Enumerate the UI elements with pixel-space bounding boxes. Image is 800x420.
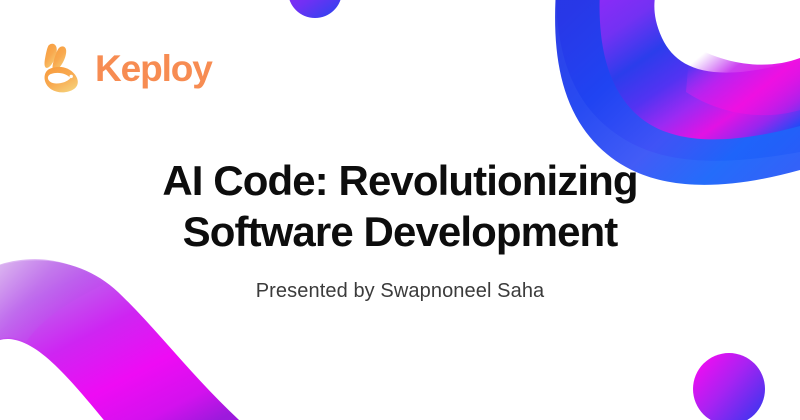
presenter-subtitle: Presented by Swapnoneel Saha bbox=[256, 279, 545, 303]
page-title: AI Code: Revolutionizing Software Develo… bbox=[80, 155, 720, 257]
title-slide: Keploy AI Code: Revolutionizing Software… bbox=[0, 0, 800, 420]
keploy-logo[interactable]: Keploy bbox=[38, 40, 212, 96]
keploy-wordmark: Keploy bbox=[95, 50, 212, 87]
rabbit-icon bbox=[38, 40, 88, 96]
